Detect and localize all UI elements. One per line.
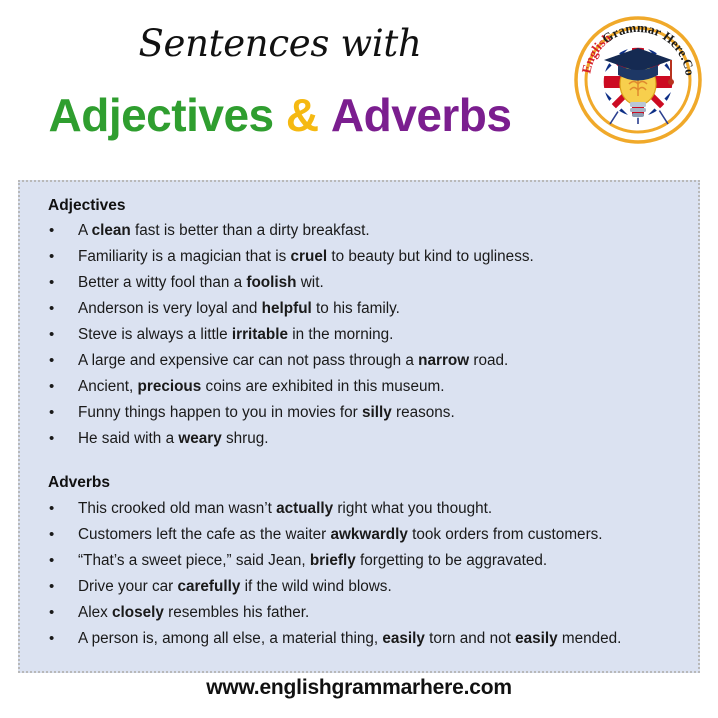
sentence-text: Ancient, bbox=[78, 378, 138, 395]
list-item: Steve is always a little irritable in th… bbox=[30, 322, 688, 348]
sentence-text: torn and not bbox=[425, 630, 515, 647]
section-heading-adverbs: Adverbs bbox=[48, 473, 688, 492]
sentence-text: road. bbox=[469, 352, 508, 369]
highlighted-word: weary bbox=[178, 430, 221, 447]
highlighted-word: cruel bbox=[291, 248, 328, 265]
highlighted-word: carefully bbox=[177, 578, 240, 595]
sentence-text: Funny things happen to you in movies for bbox=[78, 404, 362, 421]
list-item: Familiarity is a magician that is cruel … bbox=[30, 244, 688, 270]
list-item: Anderson is very loyal and helpful to hi… bbox=[30, 296, 688, 322]
list-item: Drive your car carefully if the wild win… bbox=[30, 574, 688, 600]
list-item: A clean fast is better than a dirty brea… bbox=[30, 218, 688, 244]
list-item: Alex closely resembles his father. bbox=[30, 600, 688, 626]
poster-page: Sentences with Adjectives & Adverbs bbox=[0, 0, 718, 718]
highlighted-word: easily bbox=[382, 630, 425, 647]
highlighted-word: silly bbox=[362, 404, 392, 421]
sentence-text: reasons. bbox=[392, 404, 455, 421]
title-word-ampersand: & bbox=[286, 89, 319, 141]
footer-website-url: www.englishgrammarhere.com bbox=[206, 676, 512, 699]
footer: www.englishgrammarhere.com bbox=[0, 676, 718, 700]
content-box: Adjectives A clean fast is better than a… bbox=[18, 180, 700, 673]
sentence-text: to beauty but kind to ugliness. bbox=[327, 248, 534, 265]
highlighted-word: precious bbox=[138, 378, 202, 395]
sentence-text: forgetting to be aggravated. bbox=[356, 552, 547, 569]
sentence-text: coins are exhibited in this museum. bbox=[201, 378, 444, 395]
highlighted-word: briefly bbox=[310, 552, 356, 569]
sentence-text: A bbox=[78, 222, 92, 239]
sentence-text: fast is better than a dirty breakfast. bbox=[131, 222, 370, 239]
logo-svg: English Grammar Here.Com bbox=[572, 14, 704, 146]
highlighted-word: irritable bbox=[232, 326, 288, 343]
list-item: Better a witty fool than a foolish wit. bbox=[30, 270, 688, 296]
list-item: “That’s a sweet piece,” said Jean, brief… bbox=[30, 548, 688, 574]
list-item: Ancient, precious coins are exhibited in… bbox=[30, 374, 688, 400]
sentence-text: mended. bbox=[558, 630, 622, 647]
sentence-text: A person is, among all else, a material … bbox=[78, 630, 382, 647]
sentence-text: to his family. bbox=[312, 300, 400, 317]
sentence-text: A large and expensive car can not pass t… bbox=[78, 352, 418, 369]
highlighted-word: awkwardly bbox=[331, 526, 408, 543]
list-item: Funny things happen to you in movies for… bbox=[30, 400, 688, 426]
highlighted-word: narrow bbox=[418, 352, 469, 369]
adjectives-list: A clean fast is better than a dirty brea… bbox=[30, 218, 688, 452]
sentence-text: in the morning. bbox=[288, 326, 393, 343]
highlighted-word: easily bbox=[515, 630, 558, 647]
highlighted-word: foolish bbox=[246, 274, 296, 291]
adverbs-list: This crooked old man wasn’t actually rig… bbox=[30, 496, 688, 652]
section-adjectives: Adjectives A clean fast is better than a… bbox=[30, 196, 688, 452]
page-title-line2: Adjectives & Adverbs bbox=[0, 91, 560, 139]
title-word-adjectives: Adjectives bbox=[49, 89, 274, 141]
section-heading-adjectives: Adjectives bbox=[48, 196, 688, 215]
sentence-text: Familiarity is a magician that is bbox=[78, 248, 291, 265]
sentence-text: He said with a bbox=[78, 430, 178, 447]
title-word-adverbs: Adverbs bbox=[331, 89, 512, 141]
poster-header: Sentences with Adjectives & Adverbs bbox=[0, 0, 718, 172]
sentence-text: shrug. bbox=[222, 430, 269, 447]
sentence-text: Drive your car bbox=[78, 578, 177, 595]
list-item: A person is, among all else, a material … bbox=[30, 626, 688, 652]
highlighted-word: actually bbox=[276, 500, 333, 517]
list-item: This crooked old man wasn’t actually rig… bbox=[30, 496, 688, 522]
sentence-text: if the wild wind blows. bbox=[240, 578, 391, 595]
sentence-text: right what you thought. bbox=[333, 500, 492, 517]
list-item: Customers left the cafe as the waiter aw… bbox=[30, 522, 688, 548]
highlighted-word: helpful bbox=[262, 300, 312, 317]
sentence-text: Better a witty fool than a bbox=[78, 274, 246, 291]
sentence-text: wit. bbox=[297, 274, 324, 291]
sentence-text: “That’s a sweet piece,” said Jean, bbox=[78, 552, 310, 569]
highlighted-word: clean bbox=[92, 222, 131, 239]
sentence-text: This crooked old man wasn’t bbox=[78, 500, 276, 517]
sentence-text: Anderson is very loyal and bbox=[78, 300, 262, 317]
sentence-text: resembles his father. bbox=[164, 604, 309, 621]
list-item: A large and expensive car can not pass t… bbox=[30, 348, 688, 374]
sentence-text: Customers left the cafe as the waiter bbox=[78, 526, 331, 543]
title-block: Sentences with Adjectives & Adverbs bbox=[0, 0, 560, 139]
list-item: He said with a weary shrug. bbox=[30, 426, 688, 452]
sentence-text: Steve is always a little bbox=[78, 326, 232, 343]
highlighted-word: closely bbox=[112, 604, 164, 621]
english-grammar-here-logo: English Grammar Here.Com bbox=[572, 14, 704, 146]
sentence-text: took orders from customers. bbox=[408, 526, 603, 543]
sentence-text: Alex bbox=[78, 604, 112, 621]
page-title-line1: Sentences with bbox=[0, 24, 560, 65]
section-adverbs: Adverbs This crooked old man wasn’t actu… bbox=[30, 473, 688, 651]
